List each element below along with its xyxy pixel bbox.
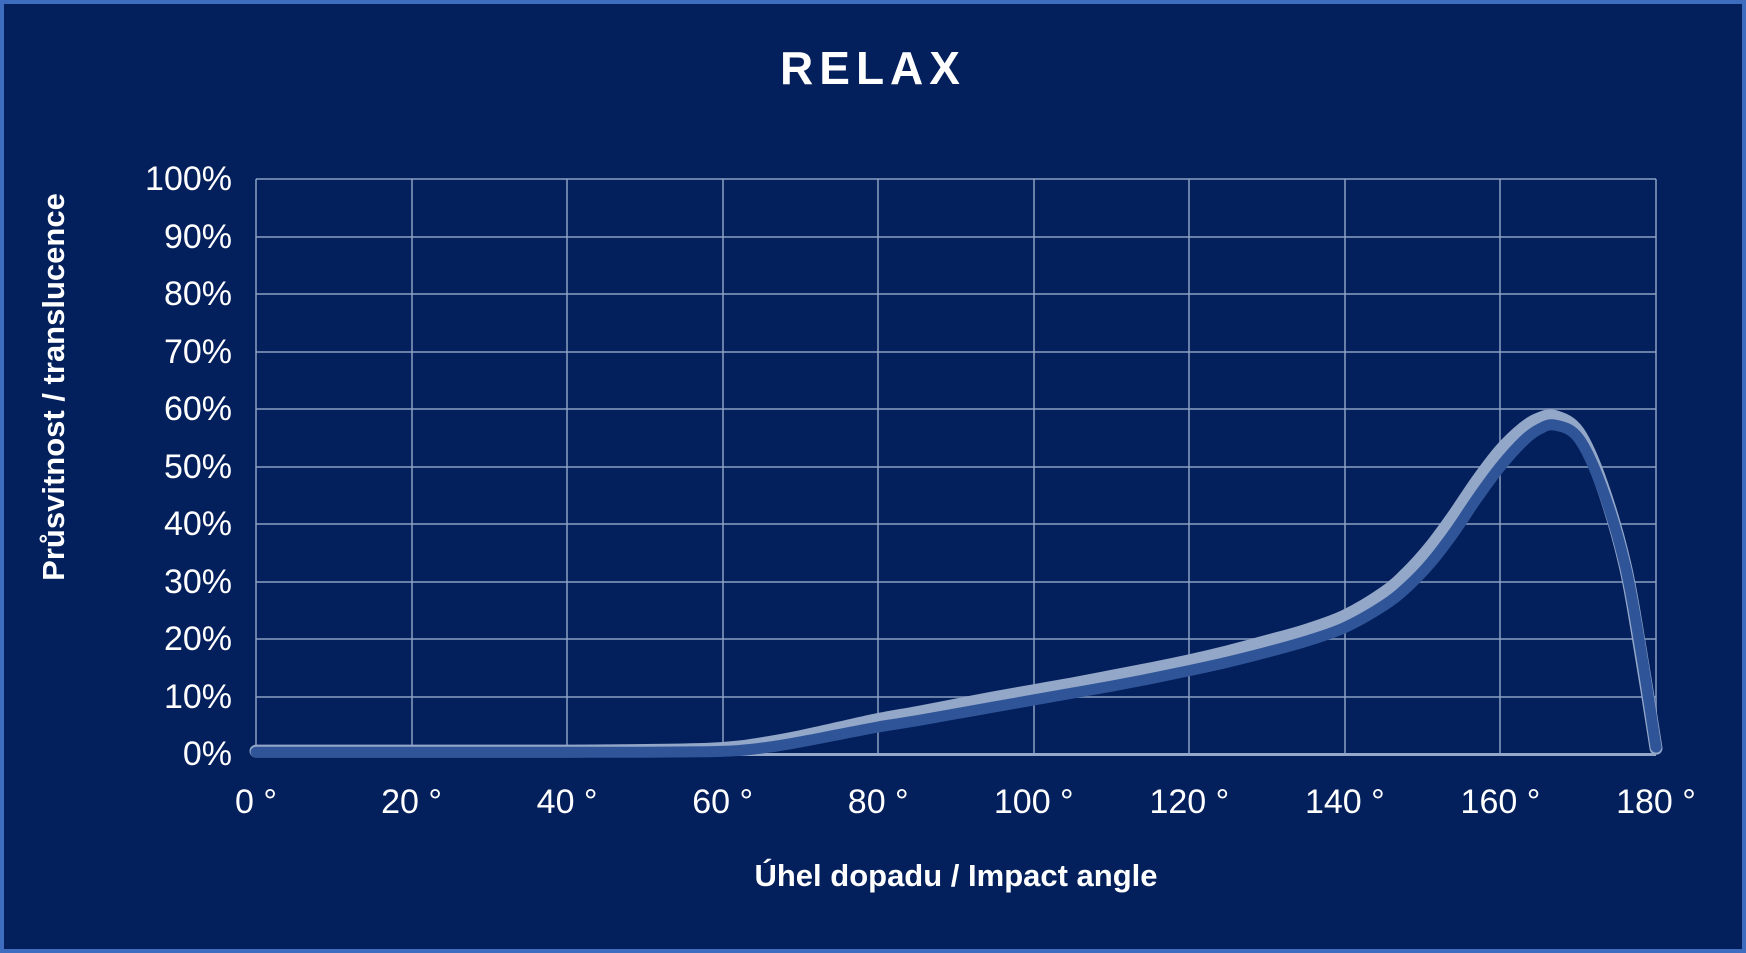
y-axis-tick-labels: 100%90%80%70%60%50%40%30%20%10%0% [96, 179, 246, 754]
y-axis-tick-label: 70% [164, 335, 232, 369]
y-axis-tick-label: 40% [164, 507, 232, 541]
x-axis-tick-labels: 0 °20 °40 °60 °80 °100 °120 °140 °160 °1… [256, 782, 1656, 832]
x-axis-tick-label: 40 ° [507, 782, 627, 822]
x-axis-tick-label: 0 ° [196, 782, 316, 822]
y-axis-tick-label: 60% [164, 392, 232, 426]
data-curves [256, 179, 1656, 754]
y-axis-tick-label: 30% [164, 565, 232, 599]
y-axis-tick-label: 100% [145, 162, 232, 196]
x-axis-tick-label: 60 ° [663, 782, 783, 822]
y-axis-tick-label: 10% [164, 680, 232, 714]
curve-outer-light-band [256, 416, 1656, 752]
y-axis-title: Průsvitnost / translucence [36, 127, 72, 647]
y-axis-tick-label: 90% [164, 220, 232, 254]
x-axis-tick-label: 180 ° [1596, 782, 1716, 822]
x-axis-tick-label: 80 ° [818, 782, 938, 822]
y-axis-tick-label: 50% [164, 450, 232, 484]
chart-card: RELAX Průsvitnost / translucence 100%90%… [0, 0, 1746, 953]
x-axis-tick-label: 20 ° [352, 782, 472, 822]
x-axis-tick-label: 140 ° [1285, 782, 1405, 822]
chart-title: RELAX [4, 40, 1742, 96]
y-axis-tick-label: 80% [164, 277, 232, 311]
x-axis-tick-label: 160 ° [1440, 782, 1560, 822]
y-axis-tick-label: 20% [164, 622, 232, 656]
x-axis-tick-label: 100 ° [974, 782, 1094, 822]
x-axis-tick-label: 120 ° [1129, 782, 1249, 822]
x-axis-title: Úhel dopadu / Impact angle [256, 858, 1656, 894]
y-axis-tick-label: 0% [183, 737, 232, 771]
plot-area [256, 179, 1656, 754]
